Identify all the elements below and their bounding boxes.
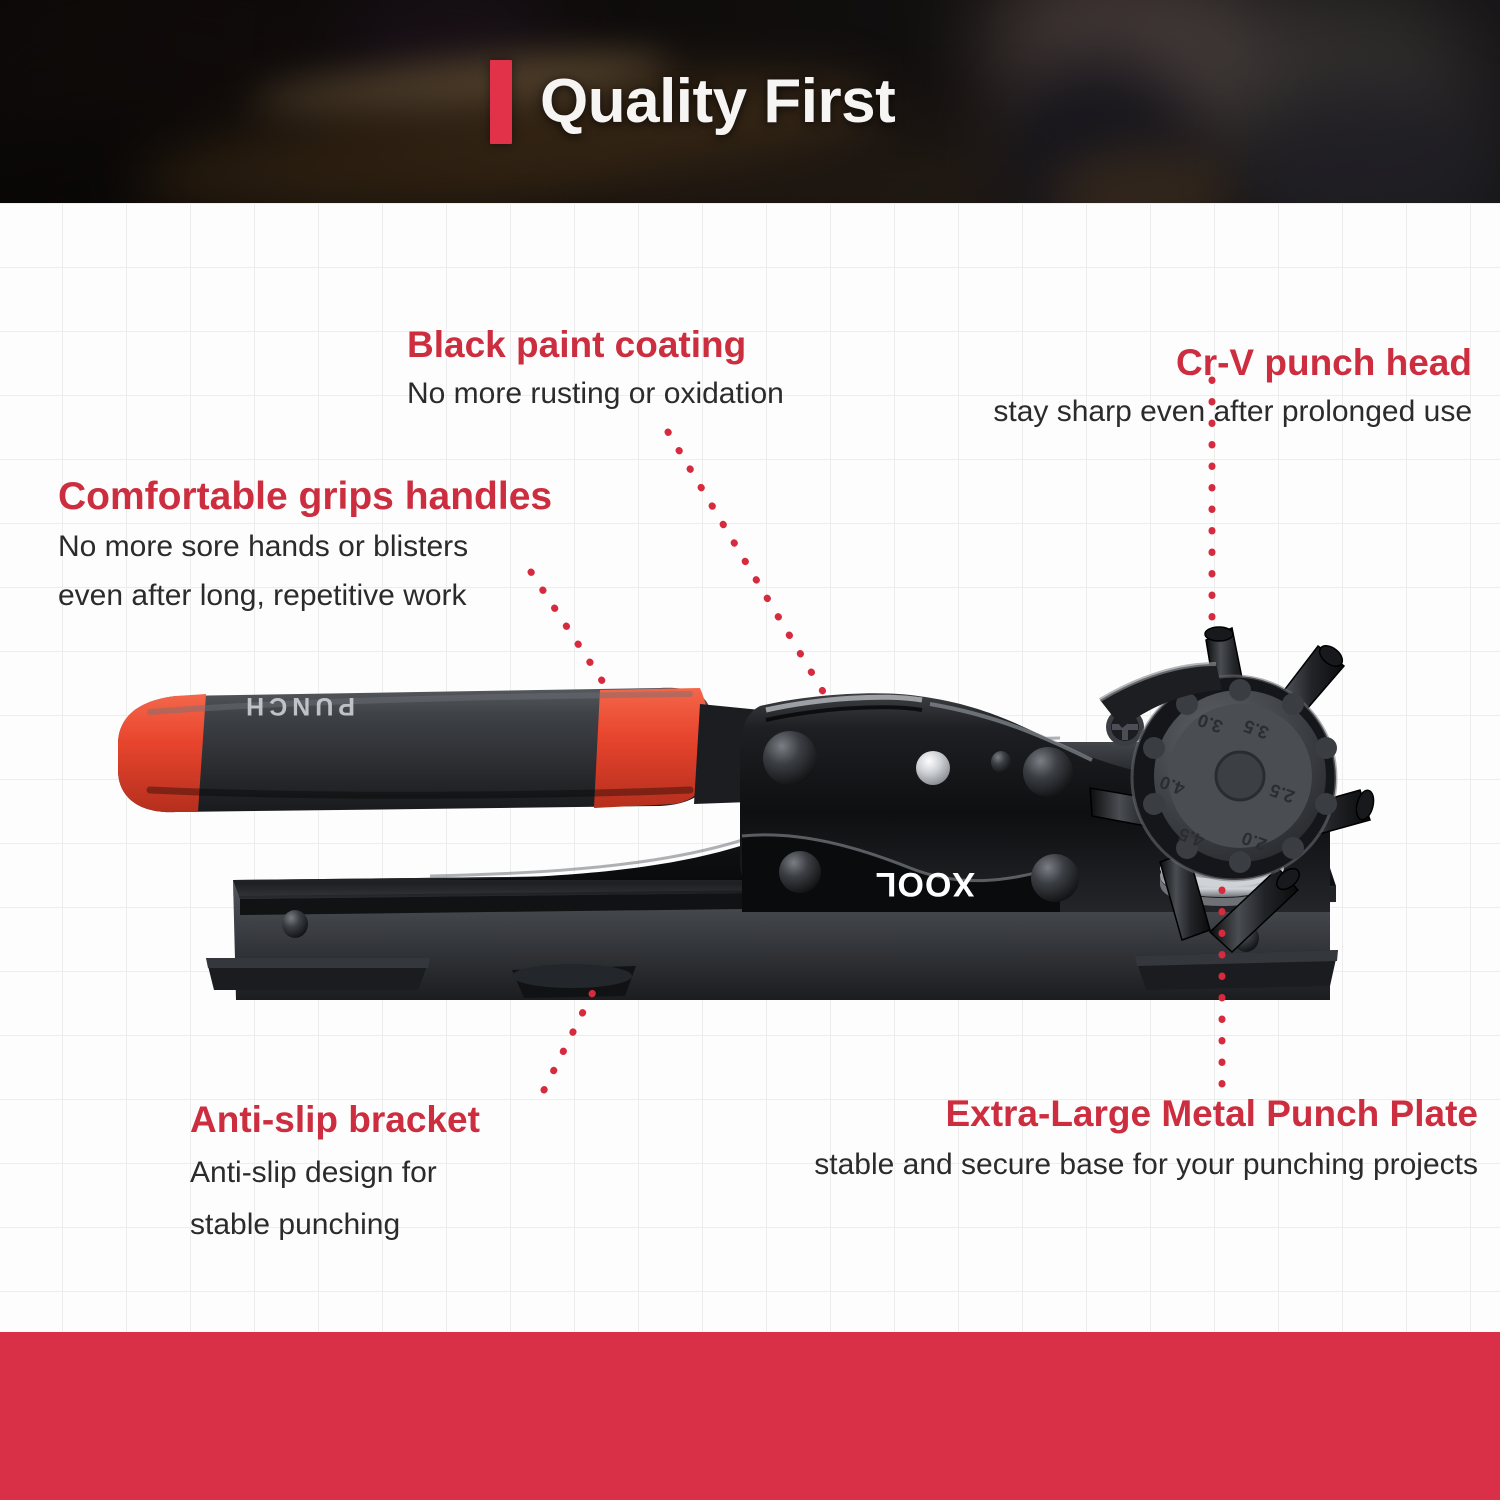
annotation-black-paint-coating: Black paint coating No more rusting or o…: [407, 325, 784, 413]
annotation-subtitle-line-2: even after long, repetitive work: [58, 577, 552, 615]
silver-rivet: [916, 751, 950, 785]
rivet: [763, 731, 817, 785]
annotation-title: Anti-slip bracket: [190, 1100, 480, 1140]
annotation-subtitle-line-1: stable and secure base for your punching…: [814, 1146, 1478, 1184]
annotation-title: Black paint coating: [407, 325, 784, 365]
annotation-cr-v-punch-head: Cr-V punch head stay sharp even after pr…: [993, 343, 1472, 431]
annotation-subtitle-line-1: No more rusting or oxidation: [407, 375, 784, 413]
annotation-subtitle-line-2: stable punching: [190, 1206, 480, 1244]
footer-band: [0, 1332, 1500, 1500]
annotation-title: Cr-V punch head: [993, 343, 1472, 383]
infographic-page: Quality First: [0, 0, 1500, 1500]
upper-grip-handle: PUNCH: [118, 688, 806, 812]
rivet: [991, 751, 1011, 773]
annotation-comfortable-grips-handles: Comfortable grips handles No more sore h…: [58, 476, 552, 615]
annotation-anti-slip-bracket: Anti-slip bracket Anti-slip design for s…: [190, 1100, 480, 1245]
rivet: [1023, 747, 1073, 797]
rivet: [779, 851, 821, 893]
annotation-subtitle-line-1: No more sore hands or blisters: [58, 528, 552, 566]
annotation-title: Comfortable grips handles: [58, 476, 552, 518]
annotation-subtitle-line-1: Anti-slip design for: [190, 1154, 480, 1192]
rivet: [1031, 854, 1079, 902]
annotation-title: Extra-Large Metal Punch Plate: [814, 1094, 1478, 1134]
product-photo-hole-punch: PUNCH: [0, 0, 1500, 1500]
annotation-extra-large-metal-punch-plate: Extra-Large Metal Punch Plate stable and…: [814, 1094, 1478, 1184]
annotation-subtitle-line-1: stay sharp even after prolonged use: [993, 393, 1472, 431]
brand-logo-text: XOOL: [875, 865, 975, 903]
handle-emboss-text: PUNCH: [241, 692, 355, 720]
